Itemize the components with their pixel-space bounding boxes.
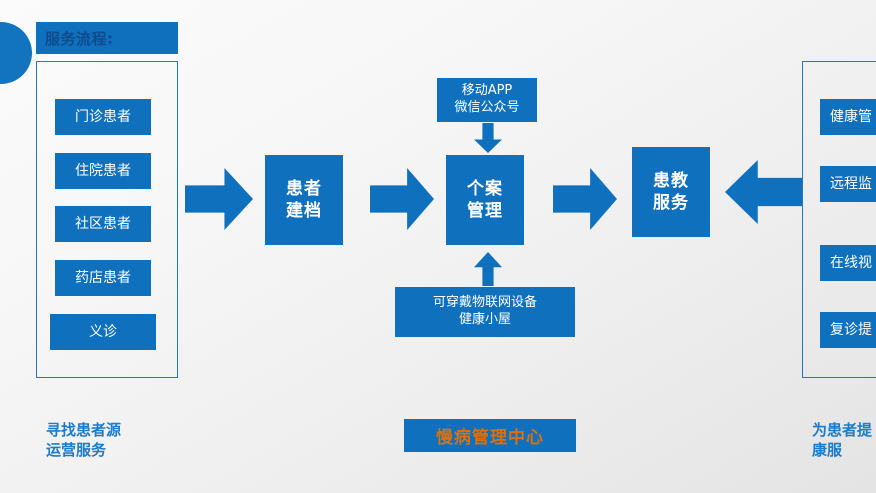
service-box-remote-monitoring-label: 远程监	[830, 175, 872, 193]
slide-canvas: 服务流程: 门诊患者 住院患者 社区患者 药店患者 义诊 患者 建档 移动APP…	[0, 0, 876, 493]
source-box-pharmacy[interactable]: 药店患者	[55, 260, 151, 296]
service-box-health-management-label: 健康管	[830, 108, 872, 126]
source-box-inpatient-label: 住院患者	[75, 162, 131, 180]
process-node-patient-filing[interactable]: 患者 建档	[265, 155, 343, 245]
process-node-patient-filing-label: 患者 建档	[286, 178, 322, 222]
decorative-circle	[0, 22, 32, 84]
arrow-left-icon-services-to-education	[725, 160, 803, 224]
service-box-online-consult-label: 在线视	[830, 254, 872, 272]
arrow-right-icon-filing-to-case	[370, 168, 434, 230]
service-box-online-consult[interactable]: 在线视	[820, 245, 876, 281]
arrow-right-icon-case-to-education	[553, 168, 617, 230]
process-node-case-management-label: 个案 管理	[467, 178, 503, 222]
process-node-patient-education-label: 患教 服务	[653, 170, 689, 214]
input-box-wearable-devices[interactable]: 可穿戴物联网设备 健康小屋	[395, 287, 575, 337]
arrow-down-icon-app-to-case	[474, 123, 502, 153]
input-box-wearable-devices-label: 可穿戴物联网设备 健康小屋	[433, 295, 537, 329]
service-box-followup-reminder[interactable]: 复诊提	[820, 312, 876, 348]
source-box-free-clinic[interactable]: 义诊	[50, 314, 156, 350]
source-box-community[interactable]: 社区患者	[55, 206, 151, 242]
input-box-mobile-app-label: 移动APP 微信公众号	[454, 83, 519, 117]
input-box-mobile-app[interactable]: 移动APP 微信公众号	[437, 78, 537, 122]
service-box-remote-monitoring[interactable]: 远程监	[820, 166, 876, 202]
service-box-health-management[interactable]: 健康管	[820, 99, 876, 135]
process-node-case-management[interactable]: 个案 管理	[446, 155, 524, 245]
source-box-outpatient[interactable]: 门诊患者	[55, 99, 151, 135]
service-box-followup-reminder-label: 复诊提	[830, 321, 872, 339]
caption-right: 为患者提 康服	[812, 420, 876, 461]
process-node-patient-education[interactable]: 患教 服务	[632, 147, 710, 237]
arrow-right-icon-sources-to-filing	[185, 168, 253, 230]
source-box-pharmacy-label: 药店患者	[75, 269, 131, 287]
service-process-header-label: 服务流程:	[45, 28, 114, 49]
service-process-header: 服务流程:	[36, 22, 178, 54]
source-box-inpatient[interactable]: 住院患者	[55, 153, 151, 189]
center-banner-label: 慢病管理中心	[436, 423, 544, 448]
source-box-free-clinic-label: 义诊	[89, 323, 117, 341]
arrow-up-icon-wearable-to-case	[474, 252, 502, 286]
source-box-community-label: 社区患者	[75, 215, 131, 233]
caption-left: 寻找患者源 运营服务	[46, 420, 206, 461]
source-box-outpatient-label: 门诊患者	[75, 108, 131, 126]
center-banner-chronic-disease-center: 慢病管理中心	[404, 419, 576, 452]
